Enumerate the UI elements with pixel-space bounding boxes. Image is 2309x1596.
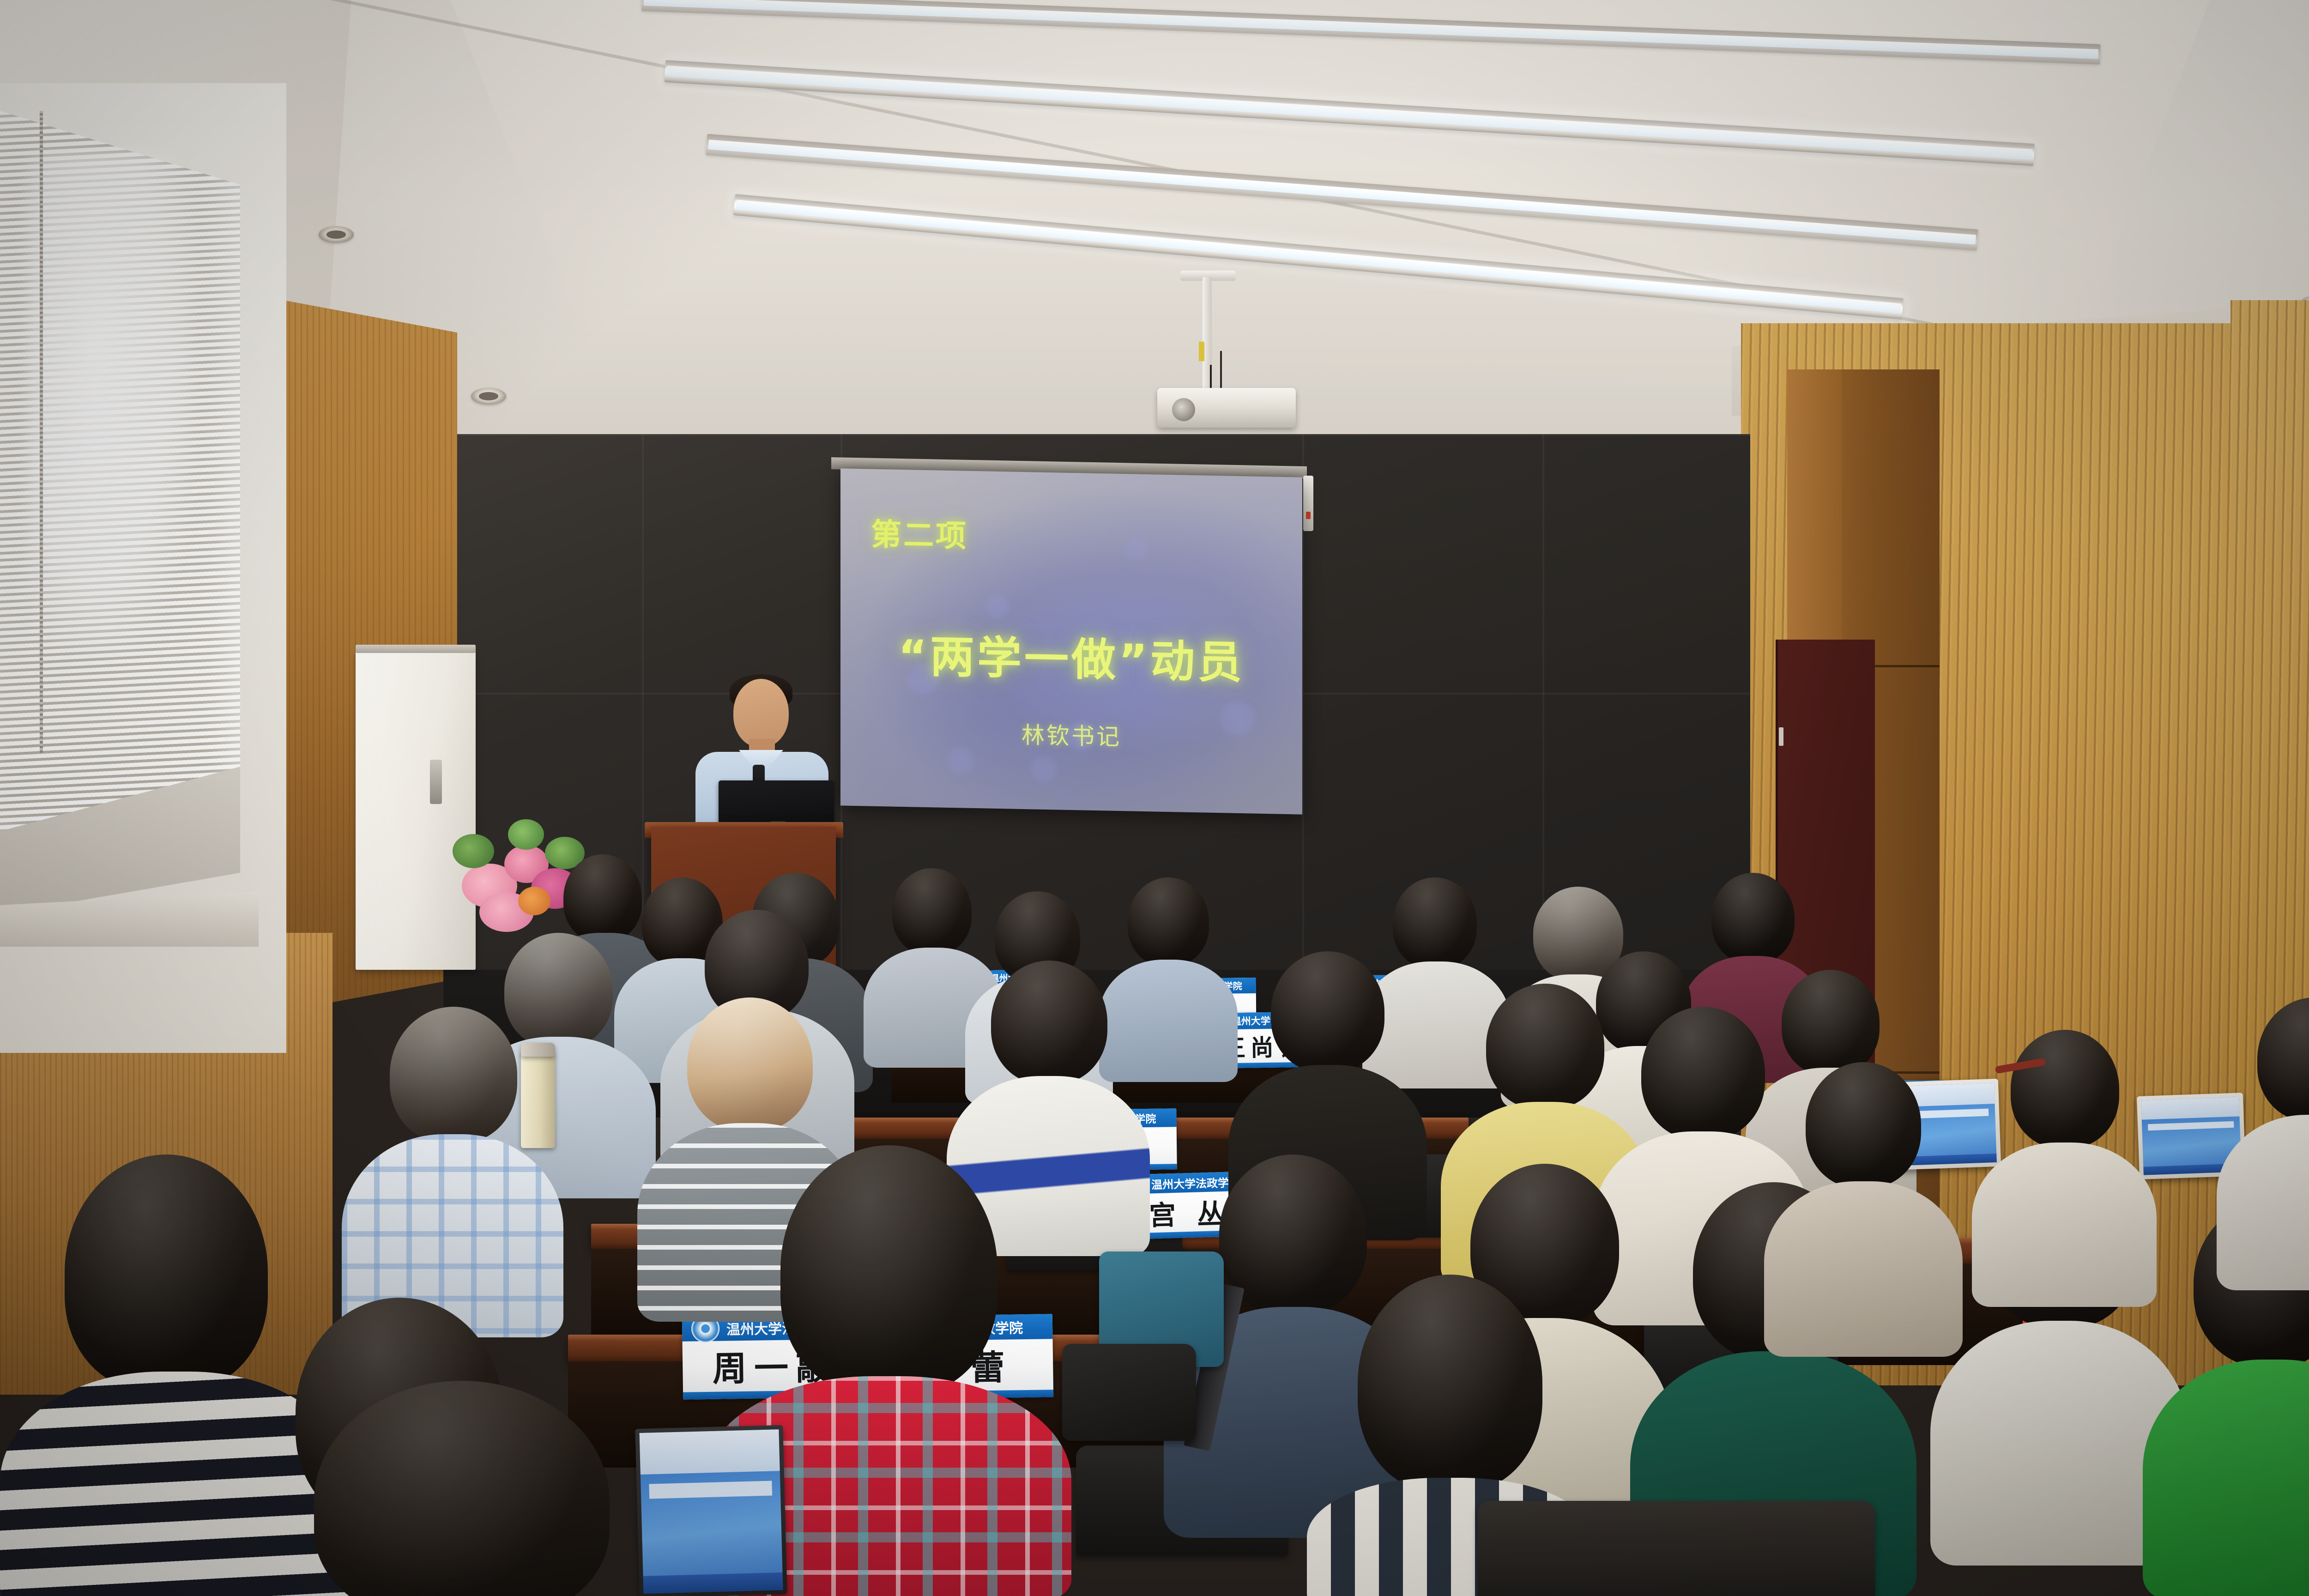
window-daylight-glow — [28, 152, 194, 651]
thermos-cap — [521, 1043, 555, 1057]
attendee-foreground — [286, 1381, 637, 1596]
ceiling-projector — [1157, 388, 1296, 428]
conference-room-photo: 第二项 “两学一做”动员 林钦书记 — [0, 0, 2309, 1596]
attendee — [2217, 997, 2309, 1284]
blind-cord[interactable] — [40, 111, 43, 753]
presenter-head — [733, 679, 789, 747]
cabinet-handle-icon[interactable] — [430, 760, 442, 804]
thermos-flask — [521, 1051, 555, 1148]
chair-back[interactable] — [1478, 1501, 1875, 1596]
slide-title: “两学一做”动员 — [840, 619, 1302, 692]
attendee-laptop[interactable] — [635, 1425, 787, 1596]
screen-roller-bracket — [1303, 476, 1313, 531]
slide-section-tag: 第二项 — [871, 510, 968, 556]
bag — [1062, 1344, 1196, 1441]
projection-screen: 第二项 “两学一做”动员 林钦书记 — [840, 468, 1302, 814]
ceiling-downlight — [471, 388, 506, 405]
projector-lens-icon — [1172, 398, 1195, 421]
attendee — [1764, 1062, 1963, 1348]
ceiling-downlight — [319, 226, 354, 243]
